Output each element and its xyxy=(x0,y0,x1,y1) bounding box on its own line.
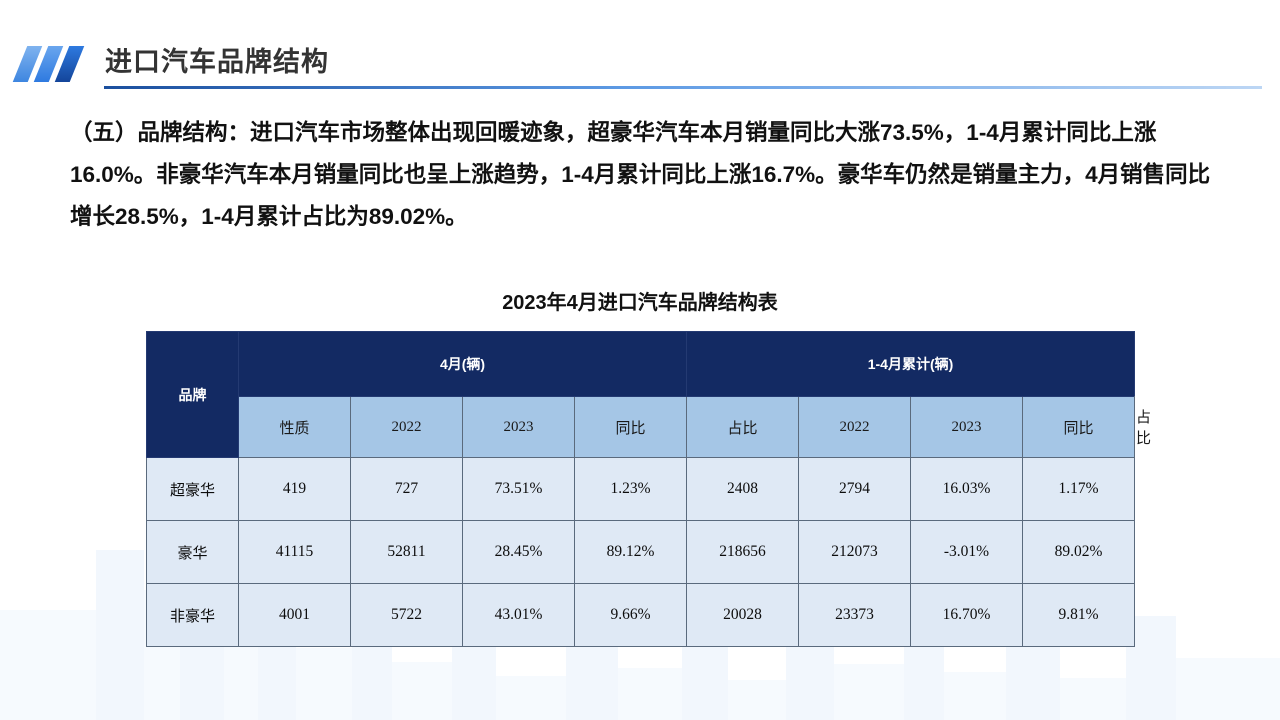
cell-cum-2023: 212073 xyxy=(799,521,911,584)
cell-cum-yoy: 16.70% xyxy=(911,584,1023,647)
brand-structure-table: 品牌 4月(辆) 1-4月累计(辆) 性质 2022 2023 同比 占比 20… xyxy=(146,331,1134,647)
header-april: 4月(辆) xyxy=(239,332,687,397)
table-sub-header-row: 性质 2022 2023 同比 占比 2022 2023 同比 占比 xyxy=(147,397,1135,458)
cell-april-yoy: 73.51% xyxy=(463,458,575,521)
subheader-cum-2023: 2023 xyxy=(911,397,1023,458)
subheader-april-2023: 2023 xyxy=(463,397,575,458)
cell-cum-share: 89.02% xyxy=(1023,521,1135,584)
cell-april-yoy: 28.45% xyxy=(463,521,575,584)
page-title: 进口汽车品牌结构 xyxy=(105,40,329,84)
row-nature: 豪华 xyxy=(147,521,239,584)
cell-cum-share: 1.17% xyxy=(1023,458,1135,521)
slide-header: 进口汽车品牌结构 xyxy=(0,40,1280,90)
cell-april-2023: 5722 xyxy=(351,584,463,647)
cell-april-yoy: 43.01% xyxy=(463,584,575,647)
subheader-cum-2022: 2022 xyxy=(799,397,911,458)
subheader-cum-yoy: 同比 xyxy=(1023,397,1135,458)
cell-april-2022: 41115 xyxy=(239,521,351,584)
cell-cum-2022: 20028 xyxy=(687,584,799,647)
cell-april-2022: 4001 xyxy=(239,584,351,647)
cell-cum-2022: 2408 xyxy=(687,458,799,521)
subheader-april-2022: 2022 xyxy=(351,397,463,458)
row-nature: 非豪华 xyxy=(147,584,239,647)
header-cumulative: 1-4月累计(辆) xyxy=(687,332,1135,397)
table-group-header-row: 品牌 4月(辆) 1-4月累计(辆) xyxy=(147,332,1135,397)
cell-cum-2022: 218656 xyxy=(687,521,799,584)
cell-cum-2023: 2794 xyxy=(799,458,911,521)
slash-logo-icon xyxy=(18,46,98,82)
cell-april-share: 1.23% xyxy=(575,458,687,521)
table-row: 超豪华 419 727 73.51% 1.23% 2408 2794 16.03… xyxy=(147,458,1135,521)
table-title: 2023年4月进口汽车品牌结构表 xyxy=(0,286,1280,315)
subheader-nature: 性质 xyxy=(239,397,351,458)
row-nature: 超豪华 xyxy=(147,458,239,521)
body-paragraph: （五）品牌结构：进口汽车市场整体出现回暖迹象，超豪华汽车本月销量同比大涨73.5… xyxy=(70,112,1220,238)
cell-april-2023: 727 xyxy=(351,458,463,521)
cell-april-2023: 52811 xyxy=(351,521,463,584)
table-row: 非豪华 4001 5722 43.01% 9.66% 20028 23373 1… xyxy=(147,584,1135,647)
header-divider xyxy=(104,86,1262,89)
table-row: 豪华 41115 52811 28.45% 89.12% 218656 2120… xyxy=(147,521,1135,584)
cell-cum-share: 9.81% xyxy=(1023,584,1135,647)
cell-april-share: 89.12% xyxy=(575,521,687,584)
cell-cum-yoy: -3.01% xyxy=(911,521,1023,584)
subheader-april-yoy: 同比 xyxy=(575,397,687,458)
slide-page: 进口汽车品牌结构 （五）品牌结构：进口汽车市场整体出现回暖迹象，超豪华汽车本月销… xyxy=(0,0,1280,720)
cell-cum-2023: 23373 xyxy=(799,584,911,647)
header-brand: 品牌 xyxy=(147,332,239,458)
cell-april-share: 9.66% xyxy=(575,584,687,647)
cell-cum-yoy: 16.03% xyxy=(911,458,1023,521)
cell-april-2022: 419 xyxy=(239,458,351,521)
subheader-april-share: 占比 xyxy=(687,397,799,458)
